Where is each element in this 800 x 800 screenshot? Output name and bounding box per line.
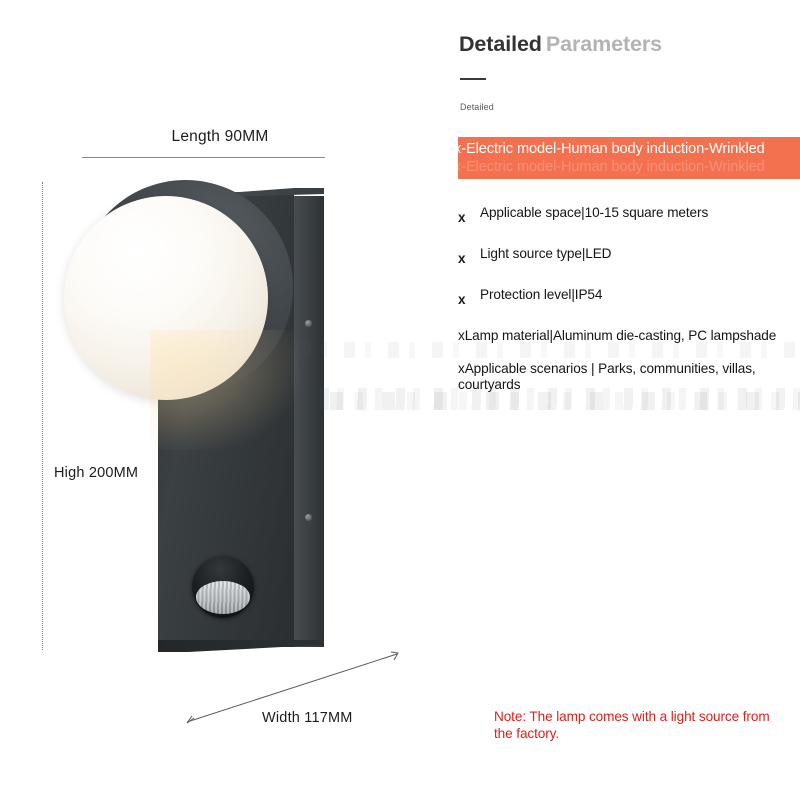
page-title: DetailedParameters xyxy=(459,32,662,57)
lamp-body-bottom-cap xyxy=(158,640,324,652)
spec-row: xLamp material|Aluminum die-casting, PC … xyxy=(440,328,800,345)
wall-lamp-illustration xyxy=(0,0,440,800)
spec-sheet-panel: DetailedParameters Detailed x-Electric m… xyxy=(440,0,800,800)
spec-row: xApplicable space|10-15 square meters xyxy=(440,205,800,226)
spec-text: xLamp material|Aluminum die-casting, PC … xyxy=(458,328,790,345)
spec-bullet-x-icon: x xyxy=(458,205,480,226)
spec-bullet-x-icon: x xyxy=(458,246,480,267)
mounting-screw-icon xyxy=(305,514,312,521)
highlight-banner: x-Electric model-Human body induction-Wr… xyxy=(458,137,800,179)
section-subtle-label: Detailed xyxy=(460,102,494,112)
spec-row: xApplicable scenarios | Parks, communiti… xyxy=(440,361,800,394)
factory-note: Note: The lamp comes with a light source… xyxy=(494,708,784,742)
product-spec-page: Length 90MM High 200MM Width 117MM D xyxy=(0,0,800,800)
spec-row: xLight source type|LED xyxy=(440,246,800,267)
page-title-secondary: Parameters xyxy=(542,32,662,56)
spec-text: xApplicable scenarios | Parks, communiti… xyxy=(458,361,790,394)
highlight-banner-text: x-Electric model-Human body induction-Wr… xyxy=(458,140,800,159)
product-image-panel: Length 90MM High 200MM Width 117MM xyxy=(0,0,440,800)
highlight-banner-ghost-text: x-Electric model-Human body induction-Wr… xyxy=(458,158,800,177)
mounting-screw-icon xyxy=(305,320,312,327)
page-title-primary: Detailed xyxy=(459,32,542,56)
spec-text: Applicable space|10-15 square meters xyxy=(480,205,790,222)
spec-text: Protection level|IP54 xyxy=(480,287,790,304)
lamp-opal-globe-shade xyxy=(64,196,268,400)
specification-list: xApplicable space|10-15 square metersxLi… xyxy=(440,205,800,410)
pir-sensor-lens xyxy=(196,581,250,614)
spec-bullet-x-icon: x xyxy=(458,287,480,308)
title-underline-rule xyxy=(460,78,486,80)
spec-text: Light source type|LED xyxy=(480,246,790,263)
lamp-body-side-face xyxy=(294,196,324,647)
spec-row: xProtection level|IP54 xyxy=(440,287,800,308)
